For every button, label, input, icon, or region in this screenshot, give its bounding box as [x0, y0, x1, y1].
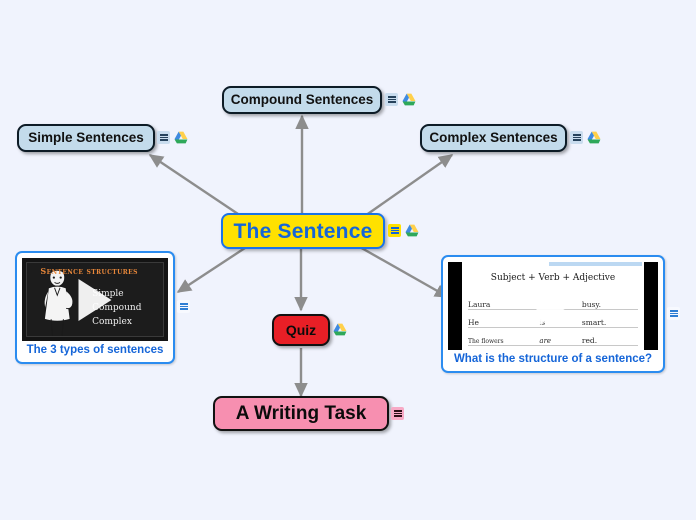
play-icon[interactable] — [537, 285, 570, 327]
row-subject: The flowers — [468, 338, 539, 345]
play-icon[interactable] — [79, 279, 112, 321]
teacher-illustration-icon — [31, 268, 84, 336]
chalkboard-title: Sentence structures — [40, 266, 137, 276]
note-icon[interactable] — [391, 407, 404, 420]
icon-row-central — [388, 224, 419, 237]
icon-row-video-left — [177, 300, 190, 313]
node-a-writing-task[interactable]: A Writing Task — [213, 396, 389, 431]
node-simple-sentences-label: Simple Sentences — [28, 131, 144, 145]
node-compound-sentences[interactable]: Compound Sentences — [222, 86, 382, 114]
row-adjective: smart. — [582, 318, 638, 327]
note-icon[interactable] — [157, 131, 170, 144]
node-the-sentence[interactable]: The Sentence — [221, 213, 385, 249]
node-quiz-label: Quiz — [286, 323, 316, 337]
icon-row-task — [391, 407, 404, 420]
mindmap-canvas[interactable]: The Sentence Simple Sentences Compound S… — [0, 0, 696, 520]
note-icon[interactable] — [667, 307, 680, 320]
note-icon[interactable] — [570, 131, 583, 144]
icon-row-video-right — [667, 307, 680, 320]
video-caption-right: What is the structure of a sentence? — [448, 353, 658, 366]
google-drive-icon[interactable] — [402, 93, 416, 106]
node-compound-sentences-label: Compound Sentences — [231, 93, 374, 107]
google-drive-icon[interactable] — [174, 131, 188, 144]
video-card-3-types-of-sentences[interactable]: Sentence structures Simple Compound Comp… — [15, 251, 175, 364]
whiteboard-heading: Subject + Verb + Adjective — [491, 273, 615, 283]
node-simple-sentences[interactable]: Simple Sentences — [17, 124, 155, 152]
node-a-writing-task-label: A Writing Task — [236, 404, 367, 423]
icon-row-simple — [157, 131, 188, 144]
row-subject: He — [468, 318, 539, 327]
edge-central-complex — [362, 155, 452, 218]
note-icon[interactable] — [385, 93, 398, 106]
letterbox-left — [448, 262, 462, 350]
icon-row-compound — [385, 93, 416, 106]
edge-central-video-left — [178, 246, 248, 292]
row-adjective: busy. — [582, 300, 638, 309]
video-caption-left: The 3 types of sentences — [22, 344, 168, 357]
node-the-sentence-label: The Sentence — [234, 221, 373, 242]
node-complex-sentences-label: Complex Sentences — [429, 131, 557, 145]
note-icon[interactable] — [388, 224, 401, 237]
table-row: The flowers are red. — [468, 328, 638, 346]
letterbox-right — [644, 262, 658, 350]
row-adjective: red. — [582, 336, 638, 345]
google-drive-icon[interactable] — [333, 323, 347, 336]
icon-row-quiz — [333, 323, 347, 336]
video-thumbnail-chalkboard[interactable]: Sentence structures Simple Compound Comp… — [22, 258, 168, 341]
icon-row-complex — [570, 131, 601, 144]
video-card-structure-of-a-sentence[interactable]: Subject + Verb + Adjective Laura busy. H… — [441, 255, 665, 373]
google-drive-icon[interactable] — [587, 131, 601, 144]
edge-central-simple — [150, 155, 244, 218]
google-drive-icon[interactable] — [405, 224, 419, 237]
node-complex-sentences[interactable]: Complex Sentences — [420, 124, 567, 152]
note-icon[interactable] — [177, 300, 190, 313]
row-subject: Laura — [468, 300, 539, 309]
video-thumbnail-whiteboard[interactable]: Subject + Verb + Adjective Laura busy. H… — [448, 262, 658, 350]
whiteboard-strip — [549, 262, 642, 266]
edge-central-video-right — [358, 246, 448, 297]
row-verb: are — [539, 337, 582, 345]
node-quiz[interactable]: Quiz — [272, 314, 330, 346]
